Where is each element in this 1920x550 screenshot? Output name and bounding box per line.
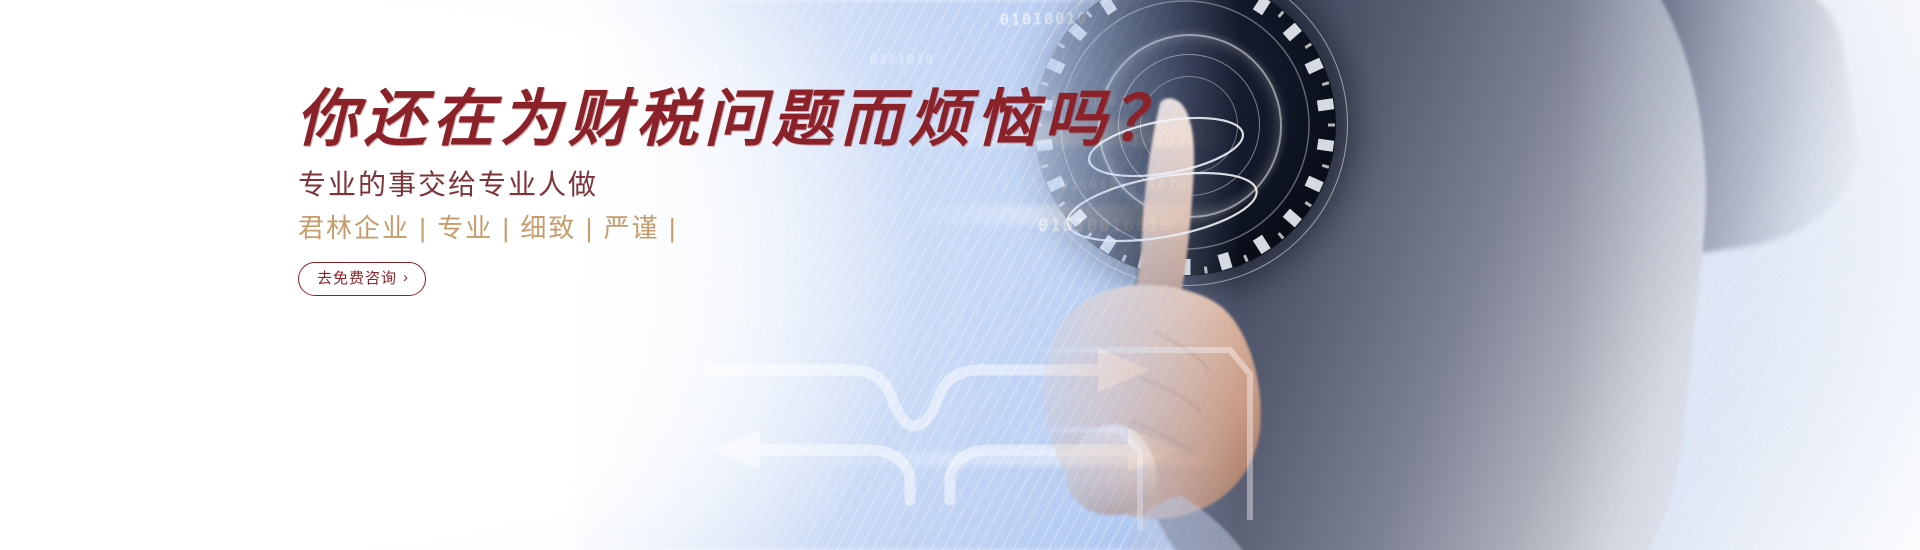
cta-label: 去免费咨询 [317,271,397,286]
chevron-right-icon: › [403,270,409,285]
hud-panel-graphic [1000,320,1420,550]
page-title: 你还在为财税问题而烦恼吗？ [296,68,1180,158]
hero-banner: 0101010 01010010 0101001010 101010101010… [0,0,1920,550]
banner-content: 你还在为财税问题而烦恼吗？ 专业的事交给专业人做 君林企业 | 专业 | 细致 … [296,0,1056,550]
banner-subtitle: 专业的事交给专业人做 [298,163,598,203]
free-consultation-button[interactable]: 去免费咨询 › [298,262,426,296]
banner-tagline: 君林企业 | 专业 | 细致 | 严谨 | [298,208,678,245]
